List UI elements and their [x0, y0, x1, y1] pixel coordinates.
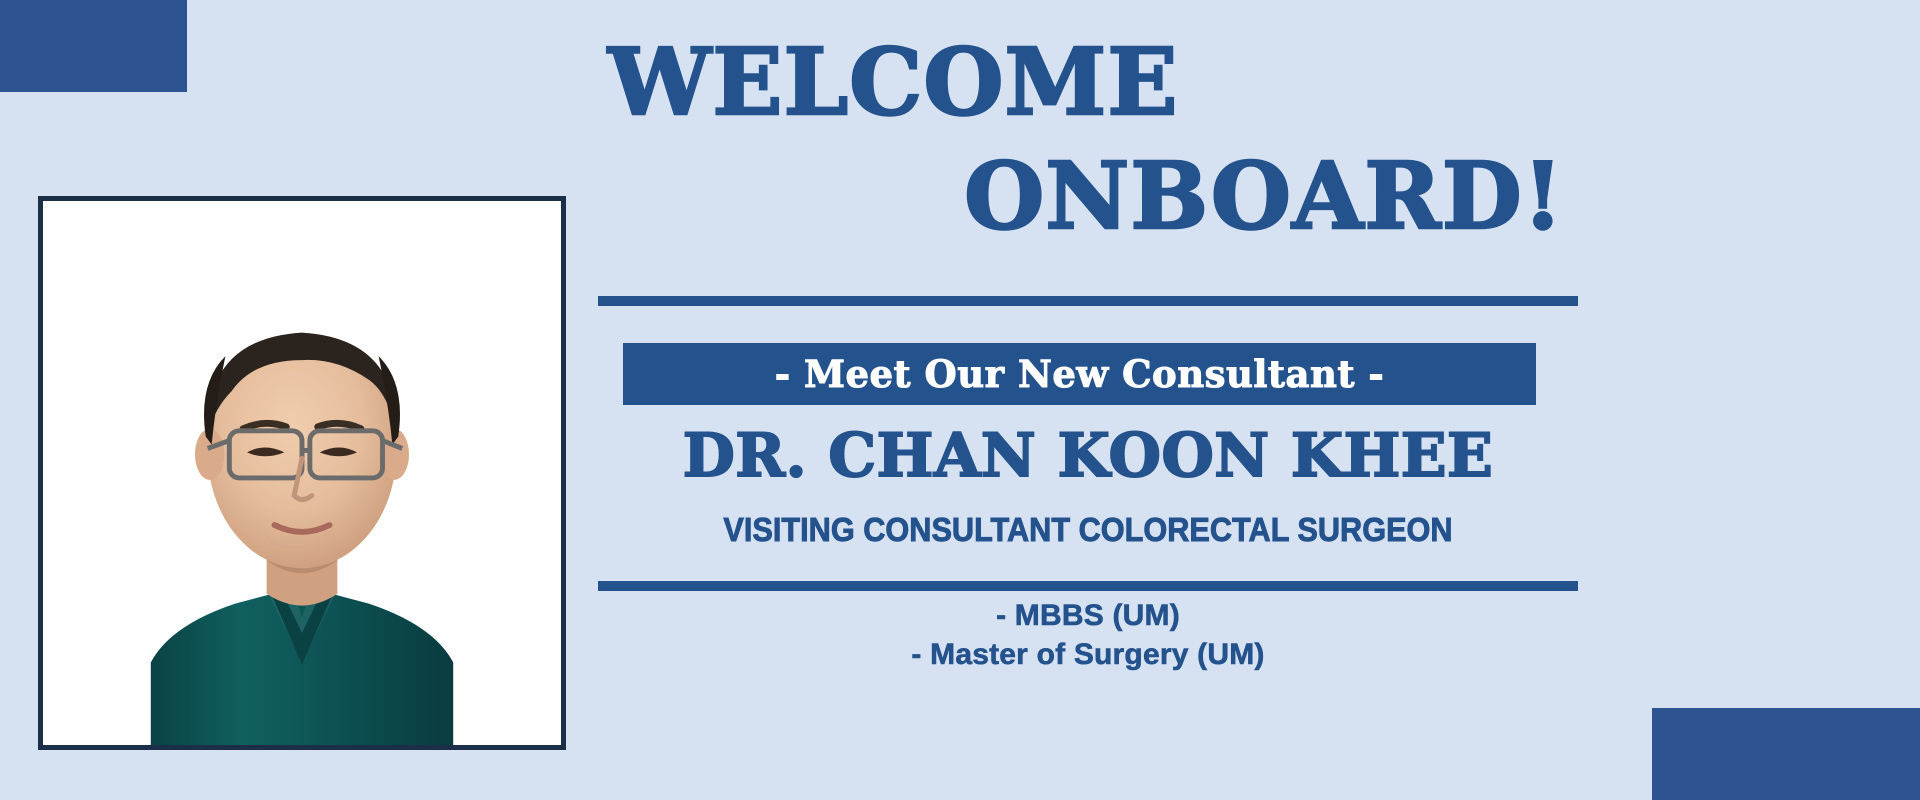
portrait-illustration	[43, 201, 561, 745]
portrait-frame	[38, 196, 566, 750]
headline-line-welcome: WELCOME	[598, 36, 1578, 128]
divider-rule-top	[598, 296, 1578, 306]
poster-content-column: WELCOME ONBOARD! - Meet Our New Consulta…	[598, 0, 1578, 800]
decorative-corner-block-bottom-right	[1652, 708, 1920, 800]
welcome-onboard-poster: WELCOME ONBOARD! - Meet Our New Consulta…	[0, 0, 1920, 800]
consultant-banner-label: - Meet Our New Consultant -	[775, 352, 1384, 396]
doctor-name: DR. CHAN KOON KHEE	[598, 426, 1578, 486]
doctor-role: VISITING CONSULTANT COLORECTAL SURGEON	[632, 511, 1543, 549]
decorative-corner-block-top-left	[0, 0, 187, 92]
headline-group: WELCOME ONBOARD!	[598, 36, 1578, 242]
headline-line-onboard: ONBOARD!	[598, 150, 1578, 242]
qualification-item: - Master of Surgery (UM)	[598, 635, 1578, 674]
divider-rule-bottom	[598, 581, 1578, 591]
consultant-banner: - Meet Our New Consultant -	[623, 343, 1536, 405]
doctor-portrait-photo	[43, 201, 561, 745]
qualifications-list: - MBBS (UM) - Master of Surgery (UM)	[598, 596, 1578, 674]
qualification-item: - MBBS (UM)	[598, 596, 1578, 635]
